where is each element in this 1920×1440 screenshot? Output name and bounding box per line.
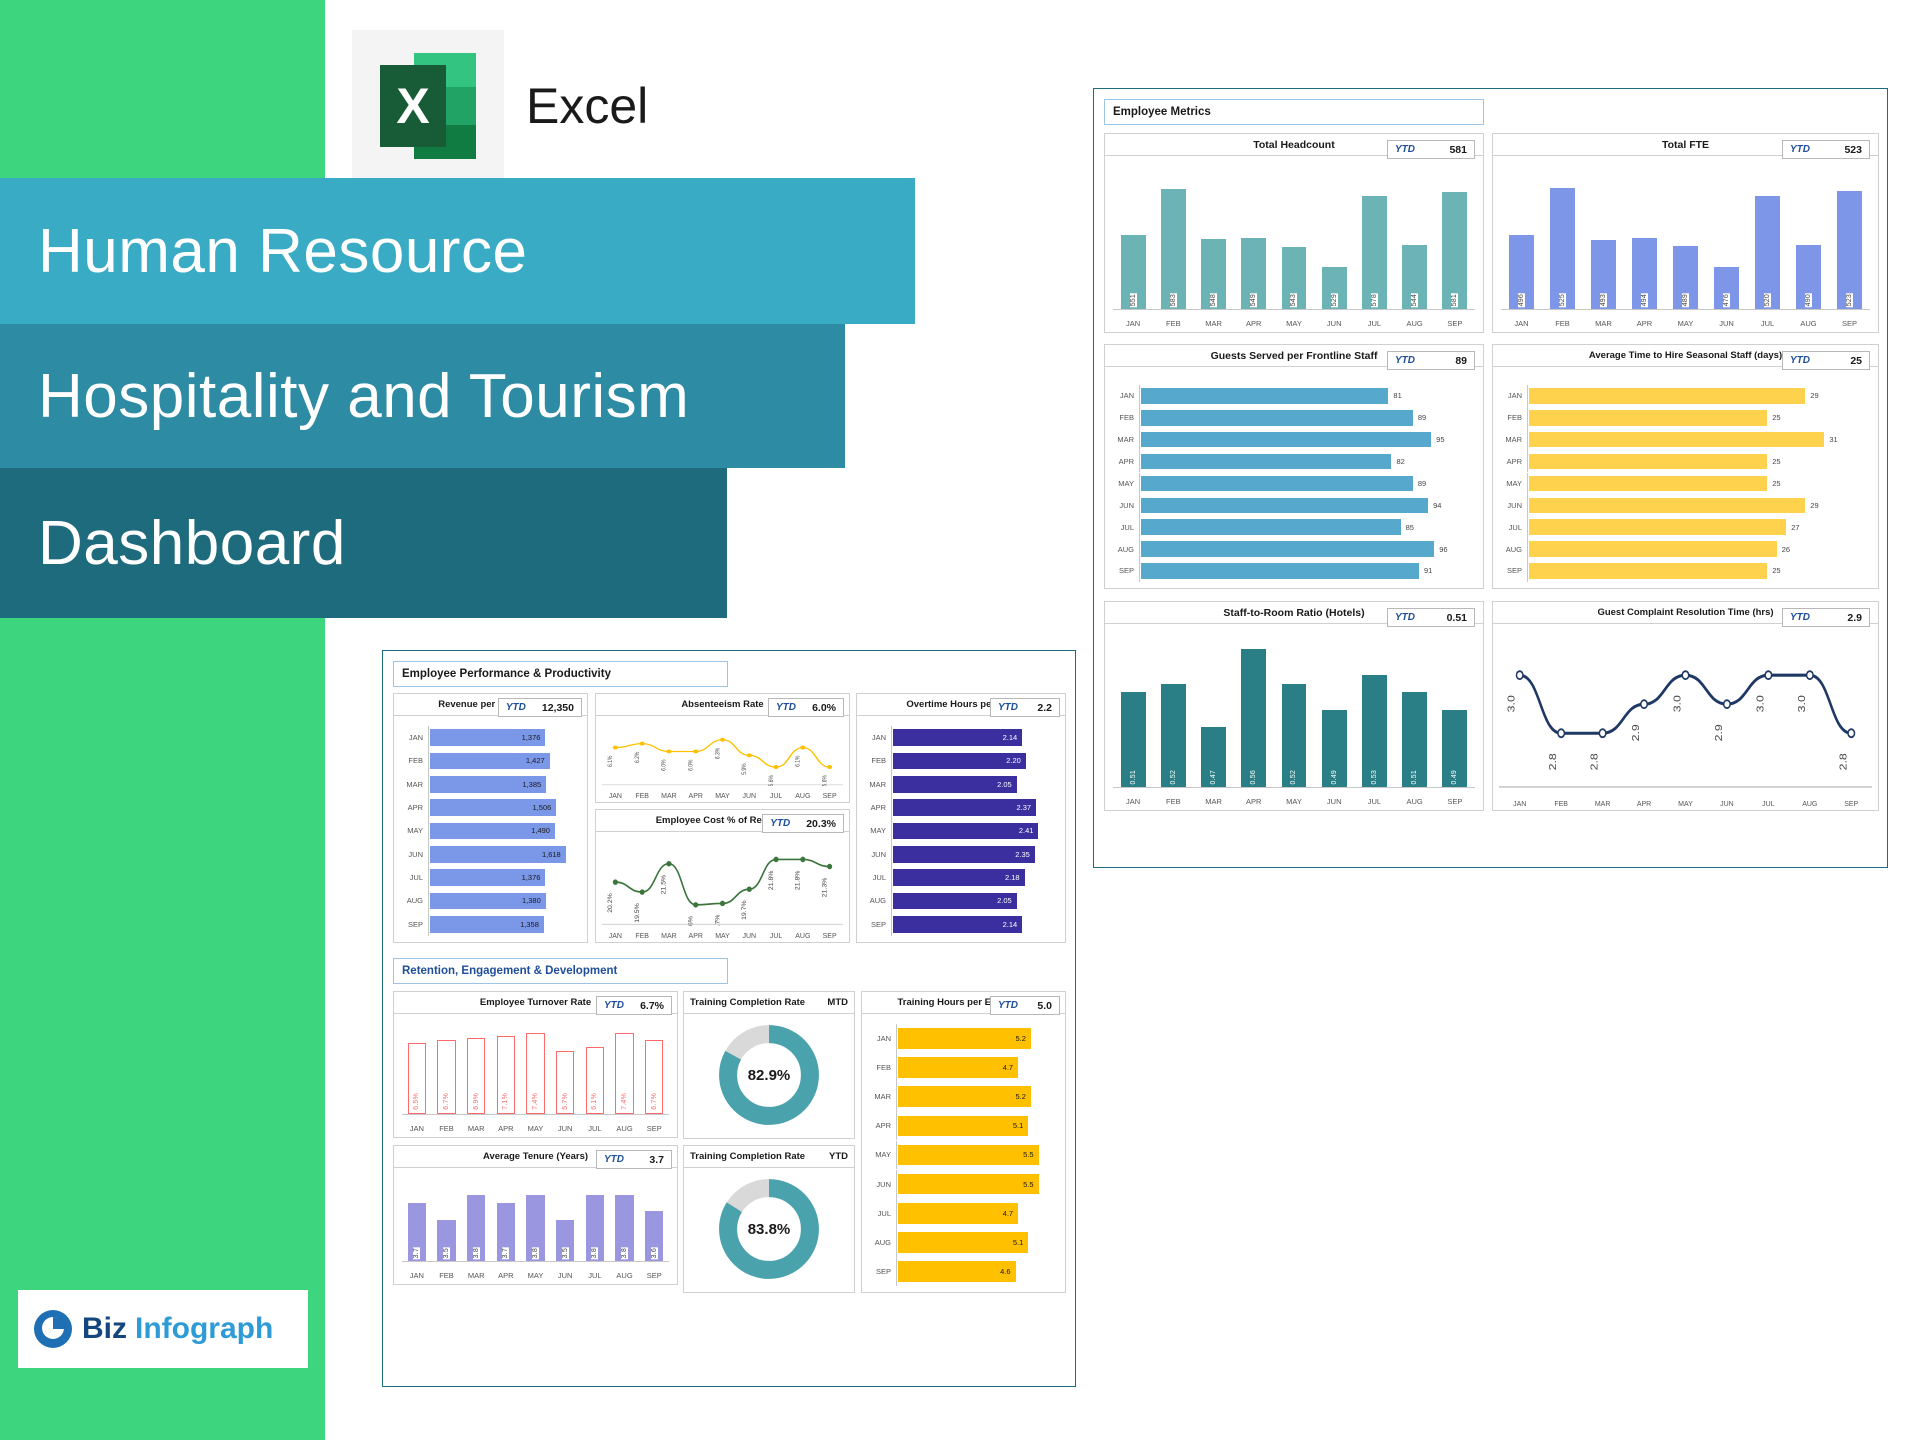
bar-value-label: 27 <box>1791 523 1799 532</box>
bar-value-label: 82 <box>1396 457 1404 466</box>
bar-value-label: 89 <box>1418 413 1426 422</box>
bar-column: 0.47 <box>1193 632 1233 787</box>
donut-chart: 82.9% <box>684 1016 854 1134</box>
bar: 4.7 <box>898 1203 1018 1224</box>
ytd-value: 6.0% <box>812 702 836 714</box>
title-line-1: Human Resource <box>38 216 527 287</box>
bar-value-label: 26 <box>1782 545 1790 554</box>
line-chart: 6.1%6.2%6.0%6.0%6.3%5.9%5.6%6.1%5.6% <box>602 724 843 786</box>
bar-column: 3.7 <box>491 1178 521 1261</box>
bar-column: 551 <box>1113 164 1153 309</box>
bar: 2.14 <box>893 729 1022 746</box>
bar-value-label: 7.4% <box>532 1092 539 1111</box>
svg-text:2.9: 2.9 <box>1714 724 1725 741</box>
ytd-value: 20.3% <box>806 818 836 830</box>
axis-tick-label: FEB <box>432 1124 462 1133</box>
category-label: SEP <box>400 920 428 929</box>
bar-track: 5.1 <box>896 1228 1059 1257</box>
axis-tick-label: APR <box>1234 319 1274 328</box>
category-label: JAN <box>1499 391 1527 400</box>
ytd-label: YTD <box>1790 144 1810 155</box>
axis-tick-label: MAY <box>709 793 736 800</box>
donut-chart: 83.8% <box>684 1170 854 1288</box>
bar: 3.7 <box>408 1203 426 1261</box>
bar: 2.18 <box>893 869 1025 886</box>
bar-value-label: 476 <box>1723 293 1730 307</box>
bar-track: 5.2 <box>896 1024 1059 1053</box>
bar-track: 2.14 <box>891 913 1059 936</box>
bar-value-label: 0.51 <box>1130 769 1137 785</box>
bar-row: APR82 <box>1111 451 1477 473</box>
bar: 5.5 <box>898 1145 1039 1166</box>
bar-value-label: 549 <box>1250 293 1257 307</box>
axis-tick-label: FEB <box>629 793 656 800</box>
bar-track: 25 <box>1527 560 1872 582</box>
bar-track: 94 <box>1139 494 1477 516</box>
bar-column: 0.52 <box>1153 632 1193 787</box>
employee-metrics-title: Employee Metrics <box>1104 99 1484 125</box>
bar-column: 0.52 <box>1274 632 1314 787</box>
period-label: MTD <box>827 997 848 1008</box>
bar: 5.2 <box>898 1086 1031 1107</box>
axis-tick-label: APR <box>491 1124 521 1133</box>
bar-column: 0.51 <box>1395 632 1435 787</box>
bar-value-label: 0.52 <box>1290 769 1297 785</box>
vbar-chart: 496525493494489476520490523 <box>1501 164 1870 310</box>
bar <box>1529 432 1824 448</box>
bar-value-label: 544 <box>1411 293 1418 307</box>
bar-column: 0.49 <box>1314 632 1354 787</box>
category-label: JUN <box>863 850 891 859</box>
ytd-badge: YTD 2.2 <box>990 698 1060 717</box>
bar: 1,380 <box>430 893 546 910</box>
svg-text:20.2%: 20.2% <box>607 893 614 913</box>
ytd-badge: YTD 25 <box>1782 351 1870 370</box>
bar: 2.20 <box>893 753 1026 770</box>
bar-column: 7.1% <box>491 1024 521 1114</box>
ytd-value: 2.9 <box>1847 612 1862 624</box>
bar-row: JUL2.18 <box>863 866 1059 889</box>
bar: 5.1 <box>898 1232 1028 1253</box>
bar-value-label: 2.05 <box>997 780 1012 789</box>
bar: 523 <box>1837 191 1862 309</box>
svg-text:21.3%: 21.3% <box>822 878 829 898</box>
bar: 1,385 <box>430 776 546 793</box>
hbar-chart: JAN5.2FEB4.7MAR5.2APR5.1MAY5.5JUN5.5JUL4… <box>868 1024 1059 1286</box>
bar: 3.8 <box>615 1195 633 1261</box>
bar-value-label: 25 <box>1772 413 1780 422</box>
x-axis-labels: JANFEBMARAPRMAYJUNJULAUGSEP <box>1113 797 1475 806</box>
bar: 0.53 <box>1362 675 1387 787</box>
x-axis-labels: JANFEBMARAPRMAYJUNJULAUGSEP <box>602 793 843 800</box>
axis-tick-label: MAY <box>1665 319 1706 328</box>
bar: 578 <box>1362 196 1387 309</box>
logo-biz-text: Biz <box>82 1312 127 1346</box>
card-training-completion-mtd: Training Completion Rate MTD 82.9% <box>683 991 855 1139</box>
x-axis-labels: JANFEBMARAPRMAYJUNJULAUGSEP <box>1499 801 1872 808</box>
category-label: MAR <box>868 1092 896 1101</box>
bar-track: 89 <box>1139 473 1477 495</box>
donut: 83.8% <box>715 1175 823 1283</box>
bar: 3.7 <box>497 1203 515 1261</box>
bar-row: JAN2.14 <box>863 726 1059 749</box>
bar: 490 <box>1796 245 1821 309</box>
card-time-to-hire: Average Time to Hire Seasonal Staff (day… <box>1492 344 1879 589</box>
axis-tick-label: JAN <box>402 1271 432 1280</box>
bar: 2.05 <box>893 893 1017 910</box>
bar-track: 25 <box>1527 451 1872 473</box>
x-axis-labels: JANFEBMARAPRMAYJUNJULAUGSEP <box>402 1271 669 1280</box>
bar-column: 543 <box>1274 164 1314 309</box>
bar-column: 3.7 <box>402 1178 432 1261</box>
bar-value-label: 490 <box>1805 293 1812 307</box>
bar: 6.7% <box>437 1040 455 1114</box>
bar-column: 0.53 <box>1354 632 1394 787</box>
title-line-2: Hospitality and Tourism <box>38 361 689 432</box>
bar-row: JUN1,618 <box>400 843 581 866</box>
axis-tick-label: JAN <box>402 1124 432 1133</box>
ytd-label: YTD <box>1395 612 1415 623</box>
bar-column: 548 <box>1193 164 1233 309</box>
bar-value-label: 1,490 <box>531 826 550 835</box>
x-axis-labels: JANFEBMARAPRMAYJUNJULAUGSEP <box>1501 319 1870 328</box>
title-banner-3: Dashboard <box>0 468 727 618</box>
axis-tick-label: MAY <box>521 1271 551 1280</box>
bar: 4.6 <box>898 1261 1016 1282</box>
bar-value-label: 548 <box>1210 293 1217 307</box>
category-label: APR <box>400 803 428 812</box>
category-label: AUG <box>863 896 891 905</box>
bar <box>1529 476 1767 492</box>
bar-value-label: 3.5 <box>562 1247 569 1259</box>
svg-text:5.6%: 5.6% <box>822 775 829 786</box>
axis-tick-label: MAR <box>1582 801 1623 808</box>
category-label: SEP <box>863 920 891 929</box>
bar-track: 95 <box>1139 429 1477 451</box>
donut-center-value: 83.8% <box>715 1175 823 1283</box>
excel-logo-tile: X <box>352 30 504 182</box>
axis-tick-label: AUG <box>1788 319 1829 328</box>
bar: 3.8 <box>586 1195 604 1261</box>
bar-value-label: 3.8 <box>532 1247 539 1259</box>
bar-value-label: 520 <box>1764 293 1771 307</box>
category-label: MAY <box>400 826 428 835</box>
axis-tick-label: MAR <box>656 793 683 800</box>
bar: 544 <box>1402 245 1427 309</box>
category-label: JAN <box>1111 391 1139 400</box>
axis-tick-label: FEB <box>629 933 656 940</box>
bar-value-label: 5.2 <box>1015 1092 1025 1101</box>
category-label: FEB <box>863 756 891 765</box>
axis-tick-label: SEP <box>1435 797 1475 806</box>
bar: 0.52 <box>1161 684 1186 787</box>
bar-value-label: 1,506 <box>533 803 552 812</box>
bar-track: 2.05 <box>891 773 1059 796</box>
ytd-badge: YTD 5.0 <box>990 996 1060 1015</box>
svg-text:21.8%: 21.8% <box>768 871 775 891</box>
bar <box>1141 432 1431 448</box>
bar-value-label: 5.2 <box>1015 1034 1025 1043</box>
ytd-label: YTD <box>770 818 790 829</box>
axis-tick-label: SEP <box>816 793 843 800</box>
axis-tick-label: JUN <box>550 1124 580 1133</box>
bar <box>1141 410 1413 426</box>
ytd-value: 6.7% <box>640 1000 664 1012</box>
bar-row: APR25 <box>1499 451 1872 473</box>
ytd-label: YTD <box>604 1000 624 1011</box>
bar-value-label: 5.5 <box>1023 1180 1033 1189</box>
ytd-label: YTD <box>998 702 1018 713</box>
card-overtime-hours: Overtime Hours per FTE YTD 2.2 JAN2.14FE… <box>856 693 1066 943</box>
bar-column: 581 <box>1435 164 1475 309</box>
vbar-chart: 0.510.520.470.560.520.490.530.510.49 <box>1113 632 1475 788</box>
ytd-value: 581 <box>1449 144 1467 156</box>
category-label: SEP <box>868 1267 896 1276</box>
bar-column: 3.5 <box>550 1178 580 1261</box>
category-label: MAR <box>863 780 891 789</box>
bar: 551 <box>1121 235 1146 309</box>
bar-value-label: 2.05 <box>997 896 1012 905</box>
category-label: MAY <box>868 1150 896 1159</box>
bar-track: 5.2 <box>896 1082 1059 1111</box>
card-average-tenure: Average Tenure (Years) YTD 3.7 3.73.53.8… <box>393 1145 678 1285</box>
bar-value-label: 523 <box>1846 293 1853 307</box>
employee-metrics-panel: Employee Metrics Total Headcount YTD 581… <box>1093 88 1888 868</box>
axis-tick-label: JAN <box>602 933 629 940</box>
axis-tick-label: AUG <box>610 1271 640 1280</box>
bar-column: 3.8 <box>580 1178 610 1261</box>
bar-value-label: 496 <box>1518 293 1525 307</box>
axis-tick-label: JUN <box>736 933 763 940</box>
bar-track: 4.7 <box>896 1199 1059 1228</box>
bar-row: JUL85 <box>1111 516 1477 538</box>
bar: 494 <box>1632 238 1657 309</box>
bar-track: 2.18 <box>891 866 1059 889</box>
bar: 493 <box>1591 240 1616 309</box>
bar-track: 82 <box>1139 451 1477 473</box>
bar-row: MAY89 <box>1111 473 1477 495</box>
bar-value-label: 0.47 <box>1210 769 1217 785</box>
axis-tick-label: MAY <box>521 1124 551 1133</box>
bar-row: MAR31 <box>1499 429 1872 451</box>
bar-row: FEB1,427 <box>400 749 581 772</box>
category-label: JUL <box>863 873 891 882</box>
bar: 6.1% <box>586 1047 604 1114</box>
card-staff-to-room: Staff-to-Room Ratio (Hotels) YTD 0.51 0.… <box>1104 601 1484 811</box>
bar: 4.7 <box>898 1057 1018 1078</box>
axis-tick-label: AUG <box>1395 797 1435 806</box>
bar-column: 3.8 <box>610 1178 640 1261</box>
ytd-value: 5.0 <box>1037 1000 1052 1012</box>
category-label: JAN <box>868 1034 896 1043</box>
bar <box>1141 454 1391 470</box>
bar-row: FEB89 <box>1111 407 1477 429</box>
bar: 7.4% <box>615 1033 633 1114</box>
bar-column: 3.5 <box>432 1178 462 1261</box>
bar-value-label: 3.7 <box>502 1247 509 1259</box>
donut: 82.9% <box>715 1021 823 1129</box>
category-label: FEB <box>1499 413 1527 422</box>
bar-row: SEP2.14 <box>863 913 1059 936</box>
bar-track: 91 <box>1139 560 1477 582</box>
bar-track: 81 <box>1139 385 1477 407</box>
bar-value-label: 0.49 <box>1451 769 1458 785</box>
bar-value-label: 5.1 <box>1013 1238 1023 1247</box>
axis-tick-label: AUG <box>789 793 816 800</box>
bar <box>1141 476 1413 492</box>
axis-tick-label: JUN <box>1706 319 1747 328</box>
ytd-value: 25 <box>1850 355 1862 367</box>
bar: 2.14 <box>893 916 1022 933</box>
bar-value-label: 2.37 <box>1016 803 1031 812</box>
bar-value-label: 6.7% <box>443 1092 450 1111</box>
card-total-headcount: Total Headcount YTD 581 5515835485495435… <box>1104 133 1484 333</box>
bar: 543 <box>1282 247 1307 309</box>
category-label: APR <box>1499 457 1527 466</box>
bar-value-label: 89 <box>1418 479 1426 488</box>
bar-value-label: 1,427 <box>526 756 545 765</box>
axis-tick-label: JUL <box>1354 319 1394 328</box>
bar-column: 496 <box>1501 164 1542 309</box>
bar-column: 6.7% <box>432 1024 462 1114</box>
bar-track: 1,376 <box>428 726 581 749</box>
bar: 2.37 <box>893 799 1036 816</box>
bar-value-label: 4.6 <box>1000 1267 1010 1276</box>
bar: 3.8 <box>467 1195 485 1261</box>
bar: 0.49 <box>1322 710 1347 788</box>
bar-value-label: 4.7 <box>1003 1063 1013 1072</box>
ytd-badge: YTD 6.0% <box>768 698 844 717</box>
category-label: AUG <box>1499 545 1527 554</box>
bar: 6.5% <box>408 1043 426 1114</box>
bar-row: AUG2.05 <box>863 889 1059 912</box>
bar <box>1141 388 1388 404</box>
card-training-hours: Training Hours per Employee YTD 5.0 JAN5… <box>861 991 1066 1293</box>
axis-tick-label: JUN <box>1314 797 1354 806</box>
bar-row: JUL4.7 <box>868 1199 1059 1228</box>
ytd-value: 3.7 <box>649 1154 664 1166</box>
svg-text:21.8%: 21.8% <box>795 871 802 891</box>
category-label: APR <box>863 803 891 812</box>
bar: 476 <box>1714 267 1739 309</box>
bar-value-label: 0.51 <box>1411 769 1418 785</box>
bar-column: 578 <box>1354 164 1394 309</box>
axis-tick-label: SEP <box>639 1271 669 1280</box>
category-label: JUL <box>400 873 428 882</box>
ytd-badge: YTD 6.7% <box>596 996 672 1015</box>
card-title-row: Training Completion Rate YTD <box>684 1146 854 1168</box>
bar-row: APR1,506 <box>400 796 581 819</box>
svg-text:3.0: 3.0 <box>1673 695 1684 712</box>
bar-row: SEP25 <box>1499 560 1872 582</box>
bar-value-label: 1,618 <box>542 850 561 859</box>
svg-text:6.1%: 6.1% <box>608 756 615 767</box>
axis-tick-label: MAY <box>1665 801 1706 808</box>
bar: 7.1% <box>497 1036 515 1114</box>
axis-tick-label: APR <box>1234 797 1274 806</box>
axis-tick-label: SEP <box>1829 319 1870 328</box>
bar: 0.51 <box>1121 692 1146 787</box>
bar-value-label: 25 <box>1772 479 1780 488</box>
bar <box>1529 541 1777 557</box>
bar: 1,427 <box>430 753 550 770</box>
axis-tick-label: FEB <box>1542 319 1583 328</box>
bar: 2.35 <box>893 846 1035 863</box>
bar-value-label: 0.56 <box>1250 769 1257 785</box>
category-label: APR <box>1111 457 1139 466</box>
bar-value-label: 29 <box>1810 501 1818 510</box>
bar-column: 5.7% <box>550 1024 580 1114</box>
axis-tick-label: MAY <box>1274 319 1314 328</box>
bar-track: 1,506 <box>428 796 581 819</box>
bar-row: JAN5.2 <box>868 1024 1059 1053</box>
excel-brand: X Excel <box>352 30 648 182</box>
bar-value-label: 493 <box>1600 293 1607 307</box>
card-turnover-rate: Employee Turnover Rate YTD 6.7% 6.5%6.7%… <box>393 991 678 1138</box>
axis-tick-label: JAN <box>1501 319 1542 328</box>
bar-row: AUG5.1 <box>868 1228 1059 1257</box>
axis-tick-label: APR <box>1623 801 1664 808</box>
bar-row: APR2.37 <box>863 796 1059 819</box>
bar-column: 529 <box>1314 164 1354 309</box>
bar-column: 3.8 <box>461 1178 491 1261</box>
ytd-value: 2.2 <box>1037 702 1052 714</box>
bar-row: AUG96 <box>1111 538 1477 560</box>
bar-row: JUN29 <box>1499 494 1872 516</box>
donut-center-value: 82.9% <box>715 1021 823 1129</box>
axis-tick-label: AUG <box>1789 801 1830 808</box>
bar: 0.49 <box>1442 710 1467 788</box>
bar-column: 6.1% <box>580 1024 610 1114</box>
x-axis-labels: JANFEBMARAPRMAYJUNJULAUGSEP <box>602 933 843 940</box>
axis-tick-label: MAR <box>656 933 683 940</box>
axis-tick-label: JAN <box>1113 797 1153 806</box>
bar: 5.5 <box>898 1174 1039 1195</box>
bar-value-label: 2.35 <box>1015 850 1030 859</box>
bar-row: MAY2.41 <box>863 819 1059 842</box>
bar-row: MAR95 <box>1111 429 1477 451</box>
line-chart: 3.02.82.82.93.02.93.03.02.8 <box>1499 636 1872 790</box>
bar: 0.51 <box>1402 692 1427 787</box>
category-label: JUN <box>1499 501 1527 510</box>
bar-value-label: 3.6 <box>651 1247 658 1259</box>
axis-tick-label: SEP <box>1831 801 1872 808</box>
bar-value-label: 543 <box>1290 293 1297 307</box>
bar: 525 <box>1550 188 1575 309</box>
category-label: SEP <box>1499 566 1527 575</box>
bar-track: 29 <box>1527 494 1872 516</box>
card-employee-cost-percent: Employee Cost % of Revenue YTD 20.3% 20.… <box>595 809 850 943</box>
bar-value-label: 1,385 <box>522 780 541 789</box>
bar-value-label: 1,358 <box>520 920 539 929</box>
bar-value-label: 3.8 <box>591 1247 598 1259</box>
axis-tick-label: FEB <box>432 1271 462 1280</box>
bar-track: 2.37 <box>891 796 1059 819</box>
ytd-badge: YTD 12,350 <box>498 698 582 717</box>
bar: 581 <box>1442 192 1467 309</box>
category-label: AUG <box>1111 545 1139 554</box>
bar <box>1141 563 1419 579</box>
bar-value-label: 2.41 <box>1019 826 1034 835</box>
bar-value-label: 91 <box>1424 566 1432 575</box>
bar: 1,506 <box>430 799 556 816</box>
category-label: JUL <box>1111 523 1139 532</box>
svg-text:3.0: 3.0 <box>1507 695 1518 712</box>
bar-column: 7.4% <box>610 1024 640 1114</box>
ytd-label: YTD <box>1790 612 1810 623</box>
hbar-chart: JAN1,376FEB1,427MAR1,385APR1,506MAY1,490… <box>400 726 581 936</box>
axis-tick-label: JAN <box>1499 801 1540 808</box>
